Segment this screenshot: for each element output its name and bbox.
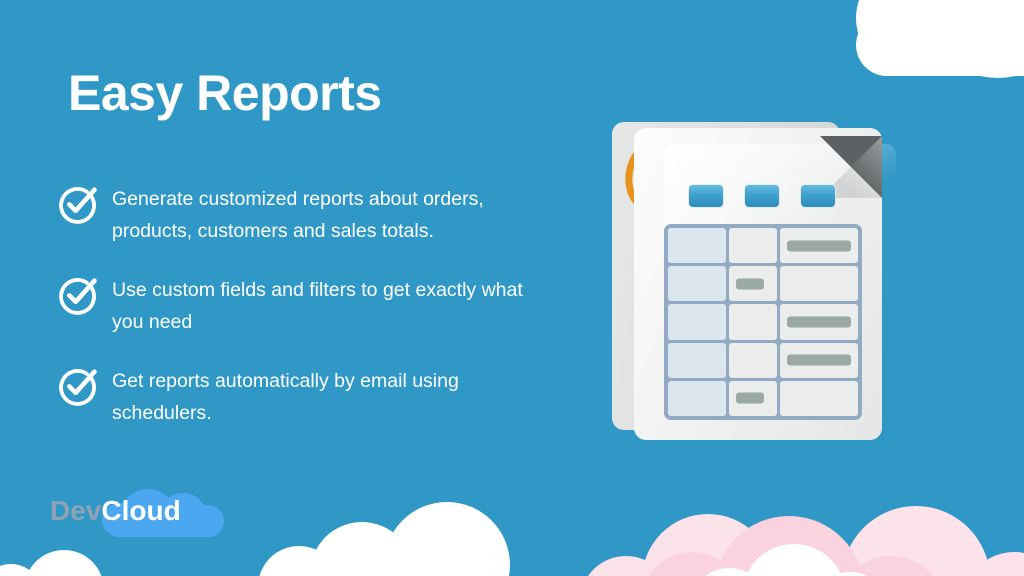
document-tab-2[interactable] [744,184,780,208]
table-cell [668,228,726,263]
cell-bar [787,355,851,366]
cloud-bottom-far-left-icon [0,556,100,576]
feature-list: Generate customized reports about orders… [56,182,526,455]
table-cell [729,266,777,301]
logo-text-dev: Dev [50,495,101,526]
list-item-label: Use custom fields and filters to get exa… [112,273,526,338]
cloud-bottom-left-icon [258,506,488,576]
list-item-label: Generate customized reports about orders… [112,182,526,247]
logo-text: DevCloud [50,495,181,527]
list-item: Get reports automatically by email using… [56,364,526,429]
table-cell [729,381,777,416]
check-circle-icon [56,181,100,225]
check-circle-icon [56,272,100,316]
table-cell [668,304,726,339]
document-tab-1[interactable] [688,184,724,208]
cell-bar [736,393,764,404]
document-tabs [688,184,868,210]
cloud-top-right-icon [856,0,1024,74]
check-circle-icon [56,363,100,407]
table-cell [729,228,777,263]
logo-text-cloud: Cloud [101,495,180,526]
table-cell [729,343,777,378]
table-row [668,266,858,301]
table-cell [780,266,858,301]
list-item-label: Get reports automatically by email using… [112,364,526,429]
table-cell [668,381,726,416]
report-table [664,224,862,420]
cloud-bottom-right-white-icon [690,546,890,576]
page-title: Easy Reports [68,66,382,121]
cell-bar [787,317,851,328]
table-row [668,228,858,263]
table-cell [780,381,858,416]
document-tab-3[interactable] [800,184,836,208]
report-document-illustration [612,118,902,448]
slide-canvas: Easy Reports Generate customized reports… [0,0,1024,576]
table-row [668,304,858,339]
list-item: Use custom fields and filters to get exa… [56,273,526,338]
devcloud-logo[interactable]: DevCloud [50,489,230,539]
list-item: Generate customized reports about orders… [56,182,526,247]
table-cell [780,304,858,339]
table-cell [668,266,726,301]
cell-bar [787,240,851,251]
table-row [668,381,858,416]
table-cell [729,304,777,339]
table-cell [668,343,726,378]
table-cell [780,343,858,378]
table-row [668,343,858,378]
table-cell [780,228,858,263]
cell-bar [736,278,764,289]
